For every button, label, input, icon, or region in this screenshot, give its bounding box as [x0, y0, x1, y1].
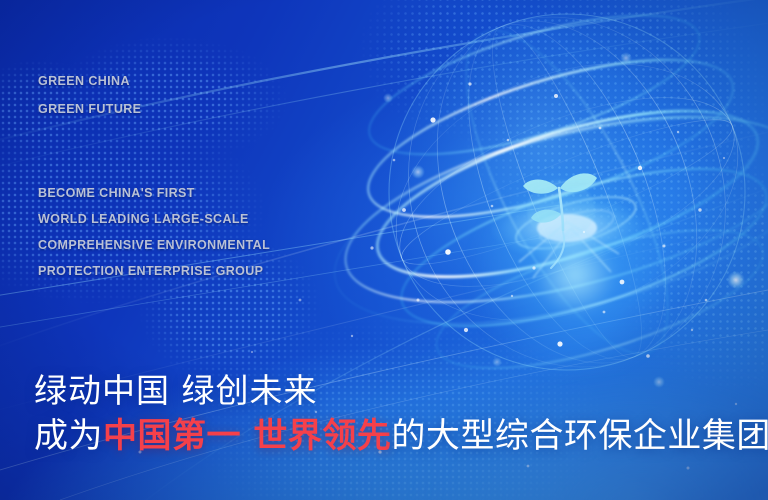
headline-highlight: 中国第一 世界领先 [103, 416, 391, 456]
slogan-line-2: GREEN FUTURE [38, 102, 141, 116]
headline-line-2: 成为中国第一 世界领先的大型综合环保企业集团 [34, 408, 768, 457]
mission-line-2: WORLD LEADING LARGE-SCALE [38, 212, 249, 226]
mission-line-1: BECOME CHINA'S FIRST [38, 186, 195, 200]
mission-line-4: PROTECTION ENTERPRISE GROUP [38, 264, 263, 278]
mission-line-3: COMPREHENSIVE ENVIRONMENTAL [38, 238, 270, 252]
slogan-line-1: GREEN CHINA [38, 74, 130, 88]
headline-line-1: 绿动中国 绿创未来 [34, 364, 318, 412]
headline-prefix: 成为 [34, 416, 103, 456]
headline-suffix: 的大型综合环保企业集团 [391, 416, 768, 456]
hero-banner: GREEN CHINA GREEN FUTURE BECOME CHINA'S … [0, 0, 768, 500]
